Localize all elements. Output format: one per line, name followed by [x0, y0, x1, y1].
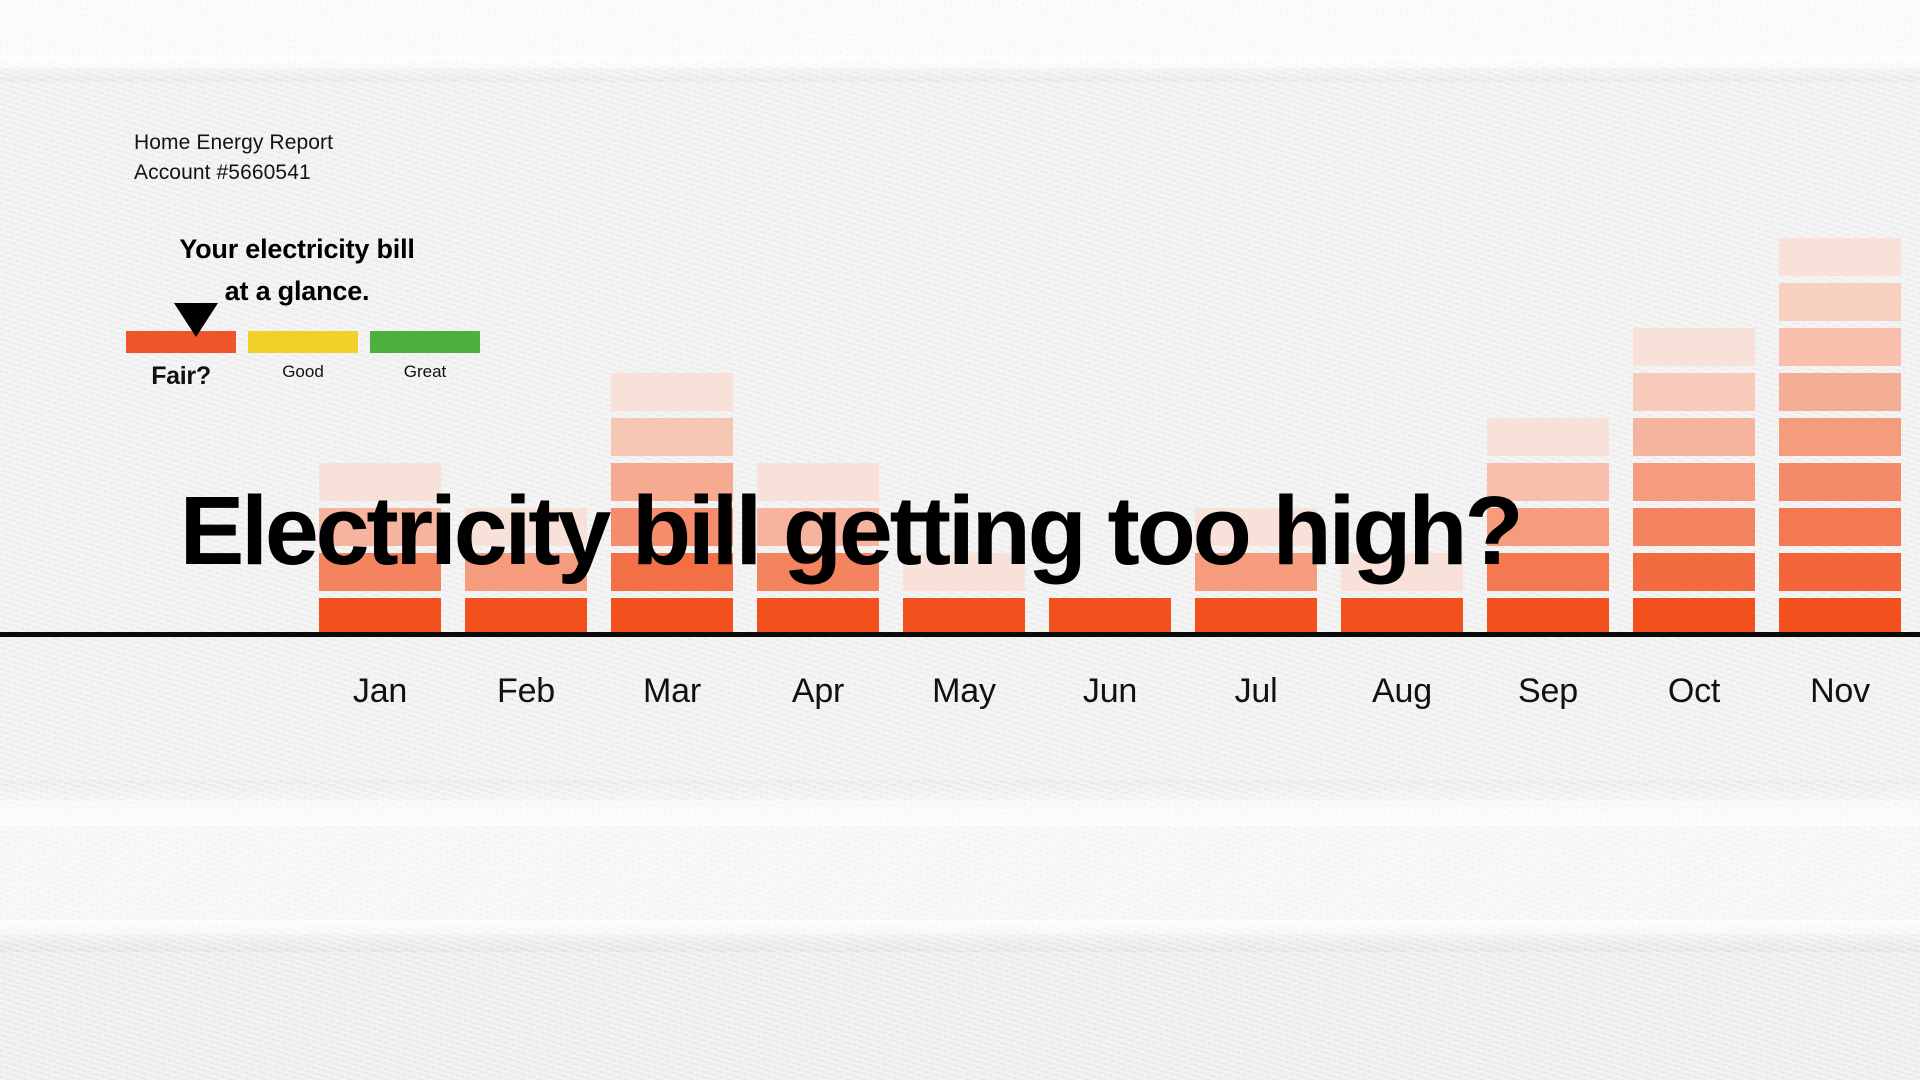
- bar-segment: [1633, 418, 1755, 456]
- bar-segment: [1779, 283, 1901, 321]
- bar-nov: [1779, 238, 1901, 636]
- bar-segment: [1779, 418, 1901, 456]
- axis-label-aug: Aug: [1322, 672, 1482, 711]
- bar-segment: [1779, 463, 1901, 501]
- report-title: Home Energy Report: [134, 128, 333, 158]
- axis-label-jun: Jun: [1030, 672, 1190, 711]
- bar-segment: [1487, 598, 1609, 636]
- bar-segment: [611, 373, 733, 411]
- bar-segment: [1195, 598, 1317, 636]
- page-headline: Electricity bill getting too high?: [0, 476, 1700, 586]
- rating-label-good: Good: [248, 362, 358, 391]
- chart-month-axis: JanFebMarAprMayJunJulAugSepOctNov: [0, 672, 1920, 732]
- rating-segment-3: [370, 331, 480, 353]
- axis-label-jul: Jul: [1176, 672, 1336, 711]
- glance-heading: Your electricity bill at a glance.: [172, 228, 422, 312]
- bar-segment: [1633, 598, 1755, 636]
- bar-segment: [611, 418, 733, 456]
- bar-segment: [1487, 418, 1609, 456]
- rating-meter-labels: Fair?GoodGreat: [126, 362, 480, 391]
- axis-label-apr: Apr: [738, 672, 898, 711]
- bar-segment: [319, 598, 441, 636]
- bar-segment: [1779, 553, 1901, 591]
- report-page: JanFebMarAprMayJunJulAugSepOctNov Home E…: [0, 0, 1920, 1080]
- bar-segment: [1779, 598, 1901, 636]
- axis-label-mar: Mar: [592, 672, 752, 711]
- axis-label-feb: Feb: [446, 672, 606, 711]
- axis-label-sep: Sep: [1468, 672, 1628, 711]
- axis-label-jan: Jan: [300, 672, 460, 711]
- account-number: Account #5660541: [134, 158, 333, 188]
- axis-label-may: May: [884, 672, 1044, 711]
- bar-segment: [903, 598, 1025, 636]
- rating-segment-2: [248, 331, 358, 353]
- bar-segment: [1779, 238, 1901, 276]
- bar-segment: [611, 598, 733, 636]
- bar-segment: [1779, 373, 1901, 411]
- bar-jun: [1049, 598, 1171, 636]
- bar-segment: [465, 598, 587, 636]
- rating-meter: Fair?GoodGreat: [126, 331, 480, 391]
- bar-segment: [1341, 598, 1463, 636]
- bar-segment: [1049, 598, 1171, 636]
- bar-segment: [757, 598, 879, 636]
- bar-segment: [1633, 328, 1755, 366]
- axis-label-nov: Nov: [1760, 672, 1920, 711]
- axis-label-oct: Oct: [1614, 672, 1774, 711]
- bar-segment: [1779, 328, 1901, 366]
- rating-label-fair: Fair?: [126, 362, 236, 391]
- report-header: Home Energy Report Account #5660541: [134, 128, 333, 188]
- chart-baseline: [0, 632, 1920, 637]
- bar-segment: [1633, 373, 1755, 411]
- rating-pointer-triangle-icon: [174, 303, 218, 337]
- bar-segment: [1779, 508, 1901, 546]
- rating-label-great: Great: [370, 362, 480, 391]
